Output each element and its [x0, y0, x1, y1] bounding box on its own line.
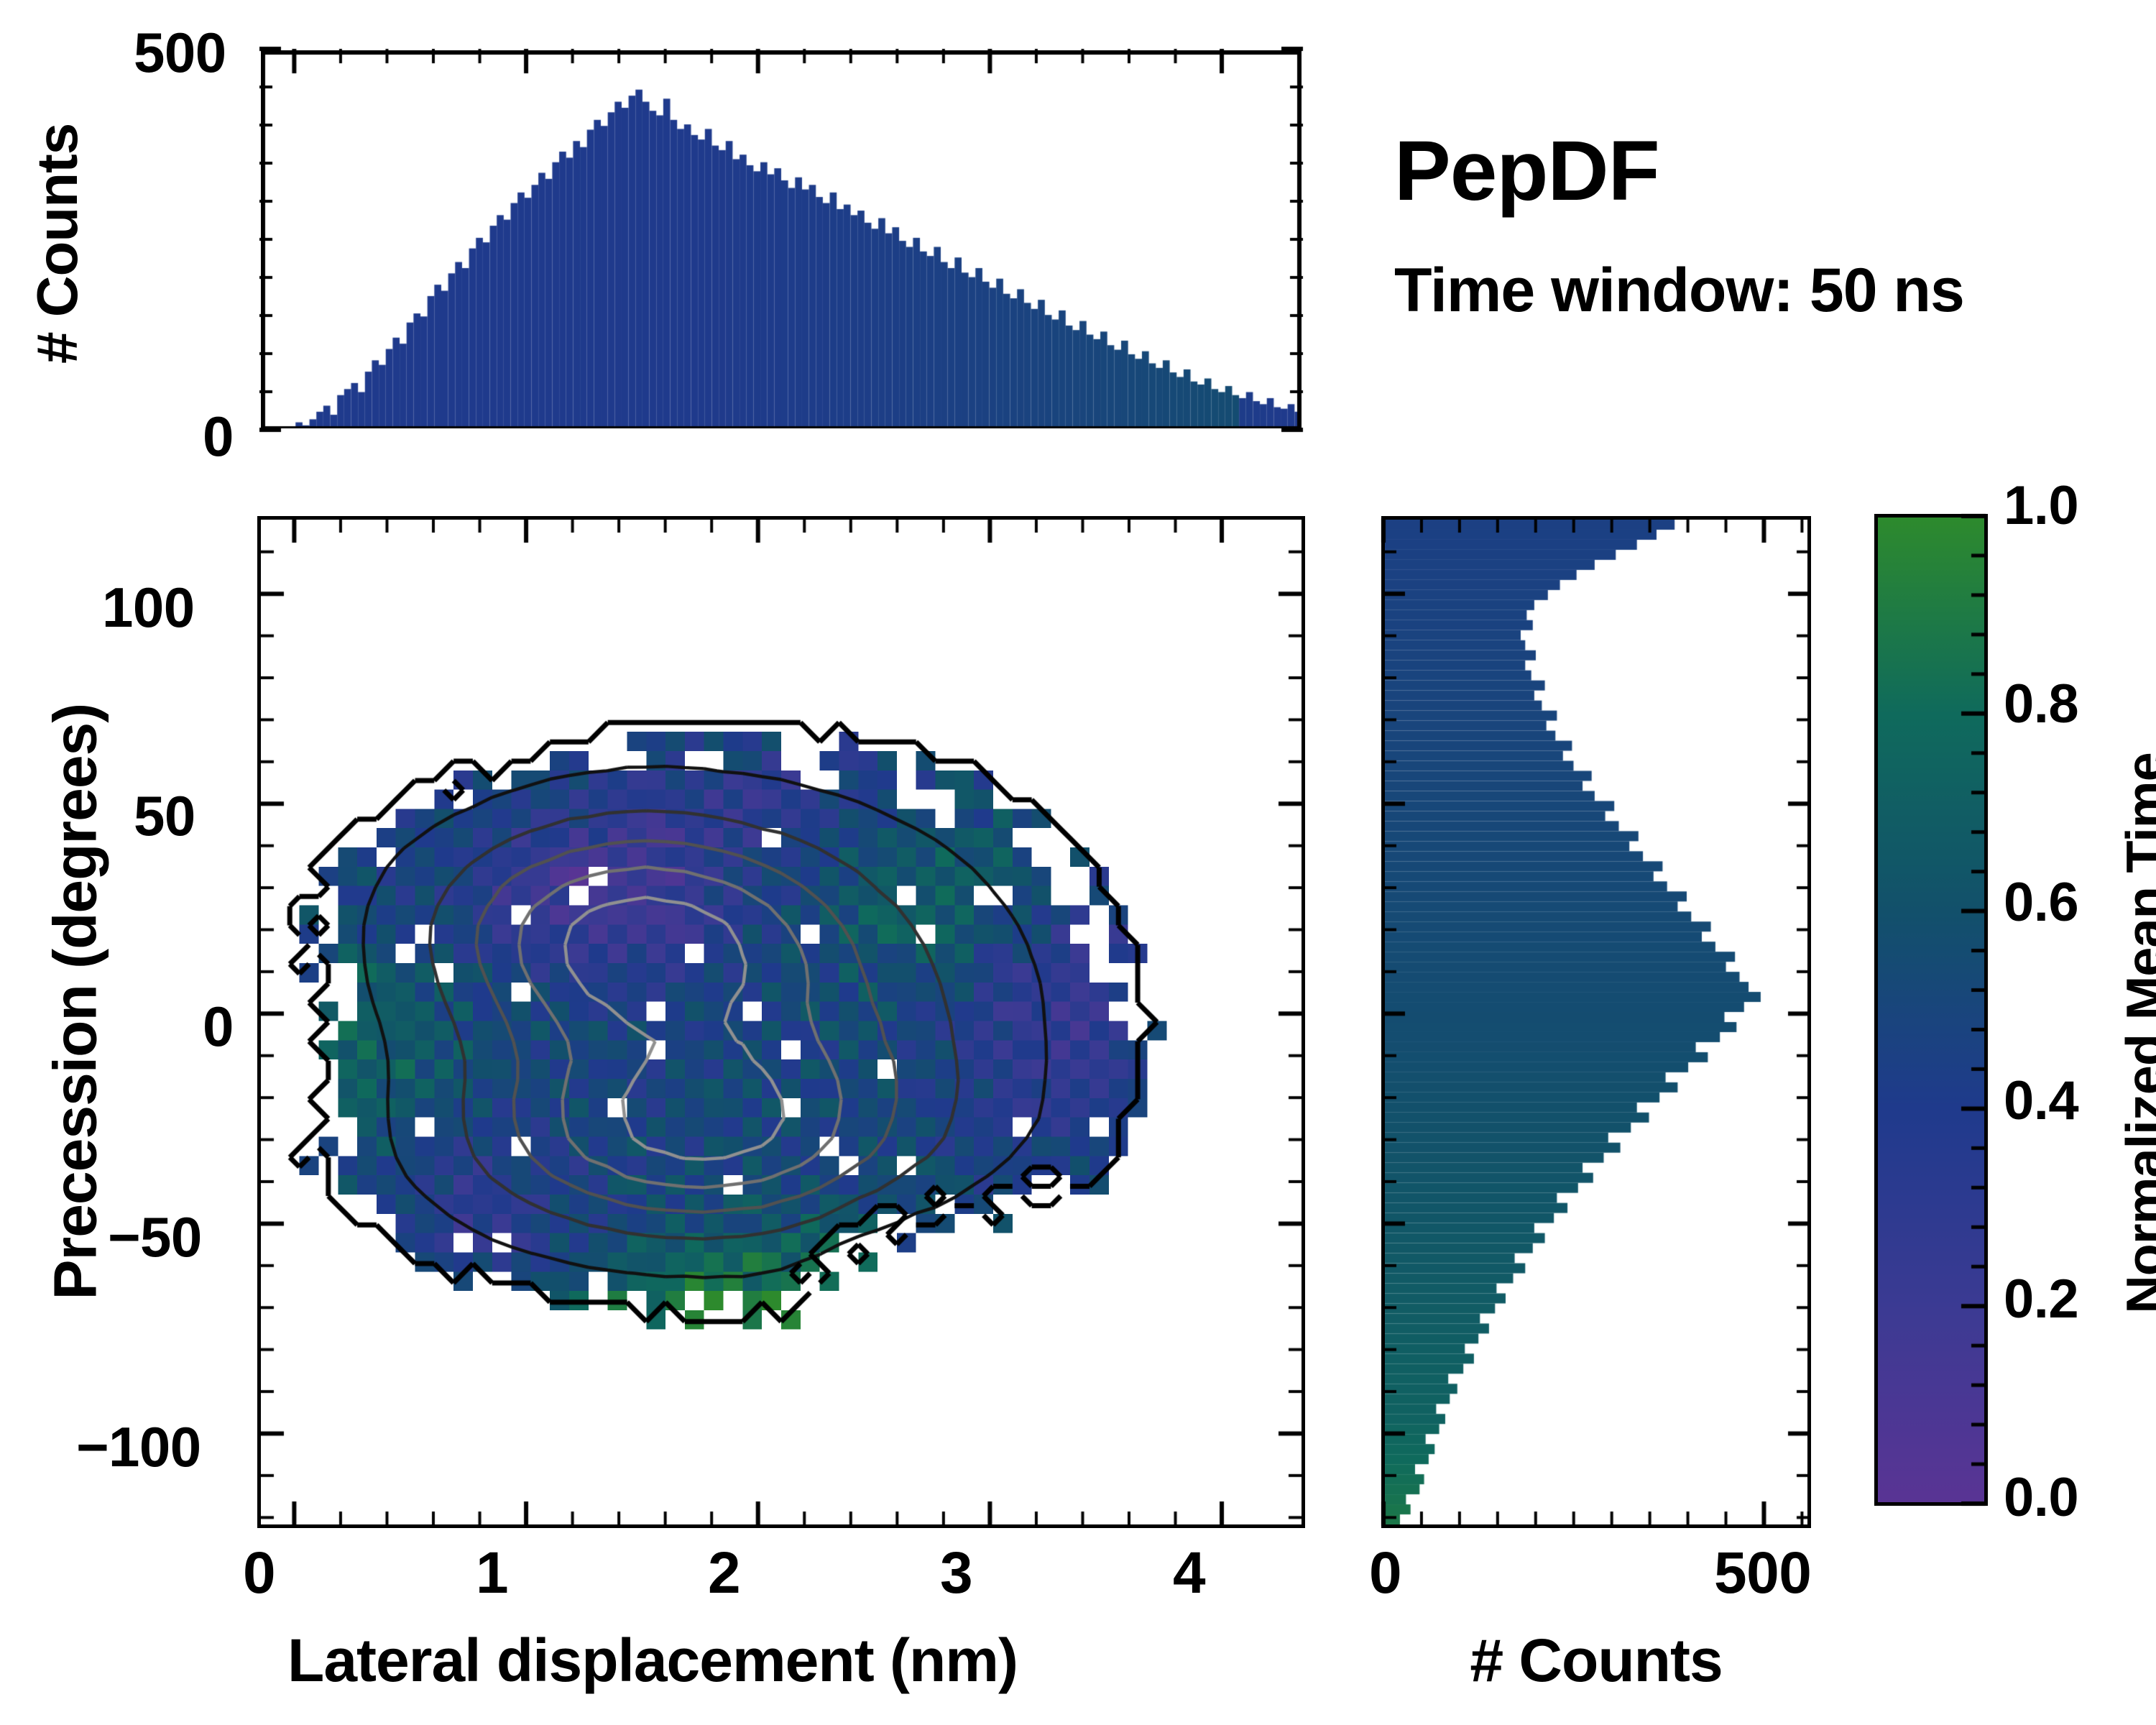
figure-canvas: 500 0 # Counts PepDF Time window: 50 ns …	[0, 0, 2156, 1725]
colorbar-label: Normalized Mean Time	[2115, 746, 2156, 1321]
main-xlabel: Lateral displacement (nm)	[243, 1626, 1062, 1696]
colorbar-gradient	[1874, 514, 1988, 1506]
main-ytick-0: 0	[203, 994, 234, 1059]
figure-subtitle: Time window: 50 ns	[1394, 255, 1964, 326]
right-hist-xlabel: # Counts	[1381, 1626, 1811, 1696]
main-xtick-1: 1	[476, 1540, 508, 1607]
main-xtick-2: 2	[708, 1540, 740, 1607]
main-ytick-minus50: −50	[108, 1205, 202, 1270]
colorbar-tick-10: 1.0	[2004, 474, 2078, 537]
main-ytick-100: 100	[102, 575, 195, 640]
colorbar-tick-06: 0.6	[2004, 871, 2078, 934]
top-hist-ytick-0: 0	[203, 404, 234, 469]
main-ylabel: Precession (degrees)	[41, 754, 111, 1300]
top-hist-ylabel: # Counts	[24, 134, 91, 364]
right-hist-xtick-0: 0	[1369, 1540, 1401, 1607]
colorbar-tick-02: 0.2	[2004, 1268, 2078, 1330]
top-marginal-histogram-bars	[261, 50, 1302, 428]
colorbar-tick-0: 0.0	[2004, 1466, 2078, 1529]
colorbar-tick-08: 0.8	[2004, 673, 2078, 735]
top-hist-ytick-500: 500	[134, 20, 226, 86]
main-xtick-3: 3	[940, 1540, 972, 1607]
main-ytick-minus100: −100	[76, 1414, 201, 1480]
colorbar-tick-04: 0.4	[2004, 1069, 2078, 1132]
main-xtick-0: 0	[243, 1540, 275, 1607]
right-marginal-histogram-bars	[1385, 520, 1807, 1524]
main-xtick-4: 4	[1173, 1540, 1205, 1607]
joint-2d-contour-overlay	[261, 520, 1302, 1524]
right-hist-xtick-500: 500	[1714, 1540, 1811, 1607]
main-ytick-50: 50	[134, 783, 195, 849]
figure-title: PepDF	[1394, 122, 1659, 220]
